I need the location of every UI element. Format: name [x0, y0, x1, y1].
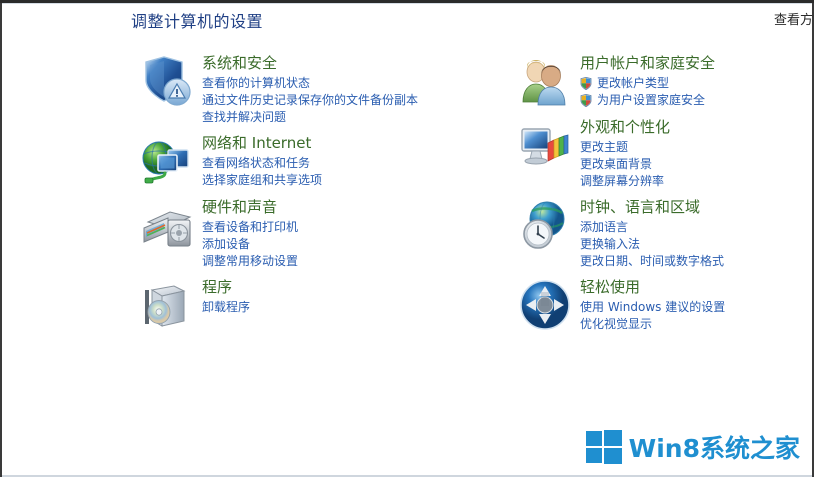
category-程序: 程序卸载程序 [140, 276, 510, 334]
control-panel-window: 调整计算机的设置 查看方 系统和安全查看你的计算机状态通过文件历史 [0, 0, 814, 477]
category-body: 硬件和声音查看设备和打印机添加设备调整常用移动设置 [202, 196, 510, 270]
monitor-palette-icon[interactable] [518, 118, 572, 172]
category-body: 程序卸载程序 [202, 276, 510, 316]
category-link[interactable]: 通过文件历史记录保存你的文件备份副本 [202, 92, 510, 109]
uac-shield-icon [580, 94, 592, 107]
category-link-label: 调整屏幕分辨率 [580, 174, 664, 188]
category-link[interactable]: 添加设备 [202, 236, 510, 253]
category-title[interactable]: 时钟、语言和区域 [580, 197, 814, 217]
category-link[interactable]: 调整常用移动设置 [202, 253, 510, 270]
category-body: 轻松使用使用 Windows 建议的设置优化视觉显示 [580, 276, 814, 333]
category-用户帐户和家庭安全: 用户帐户和家庭安全更改帐户类型为用户设置家庭安全 [518, 52, 814, 110]
category-title[interactable]: 系统和安全 [202, 53, 510, 73]
ease-of-access-icon[interactable] [518, 278, 572, 332]
clock-globe-icon[interactable] [518, 198, 572, 252]
category-link-label: 使用 Windows 建议的设置 [580, 300, 725, 314]
category-link-label: 查找并解决问题 [202, 110, 286, 124]
category-link-label: 卸载程序 [202, 300, 250, 314]
category-轻松使用: 轻松使用使用 Windows 建议的设置优化视觉显示 [518, 276, 814, 334]
category-link[interactable]: 优化视觉显示 [580, 316, 814, 333]
category-link-label: 查看网络状态和任务 [202, 156, 310, 170]
category-link[interactable]: 更改桌面背景 [580, 156, 814, 173]
category-网络和 Internet: 网络和 Internet查看网络状态和任务选择家庭组和共享选项 [140, 132, 510, 190]
category-link-label: 查看设备和打印机 [202, 220, 298, 234]
category-title[interactable]: 网络和 Internet [202, 133, 510, 153]
category-link[interactable]: 更改帐户类型 [580, 75, 814, 92]
category-link-label: 通过文件历史记录保存你的文件备份副本 [202, 93, 418, 107]
category-link-label: 更改帐户类型 [597, 76, 669, 90]
categories-left-column: 系统和安全查看你的计算机状态通过文件历史记录保存你的文件备份副本查找并解决问题 [140, 52, 510, 340]
category-硬件和声音: 硬件和声音查看设备和打印机添加设备调整常用移动设置 [140, 196, 510, 270]
category-link-label: 添加语言 [580, 220, 628, 234]
users-icon[interactable] [518, 54, 572, 108]
category-link[interactable]: 查看你的计算机状态 [202, 75, 510, 92]
category-link-label: 添加设备 [202, 237, 250, 251]
category-时钟、语言和区域: 时钟、语言和区域添加语言更换输入法更改日期、时间或数字格式 [518, 196, 814, 270]
category-系统和安全: 系统和安全查看你的计算机状态通过文件历史记录保存你的文件备份副本查找并解决问题 [140, 52, 510, 126]
category-link-label: 调整常用移动设置 [202, 254, 298, 268]
category-link-label: 更换输入法 [580, 237, 640, 251]
network-globe-icon[interactable] [140, 134, 194, 188]
category-link[interactable]: 查看设备和打印机 [202, 219, 510, 236]
shield-icon[interactable] [140, 54, 194, 108]
windows-logo-icon [586, 430, 622, 464]
category-link-label: 选择家庭组和共享选项 [202, 173, 322, 187]
category-link[interactable]: 卸载程序 [202, 299, 510, 316]
category-title[interactable]: 程序 [202, 277, 510, 297]
category-link-label: 为用户设置家庭安全 [597, 93, 705, 107]
category-body: 系统和安全查看你的计算机状态通过文件历史记录保存你的文件备份副本查找并解决问题 [202, 52, 510, 126]
view-by-label[interactable]: 查看方 [774, 9, 813, 28]
category-link-label: 优化视觉显示 [580, 317, 652, 331]
category-link[interactable]: 查找并解决问题 [202, 109, 510, 126]
category-link[interactable]: 选择家庭组和共享选项 [202, 172, 510, 189]
category-title[interactable]: 外观和个性化 [580, 117, 814, 137]
window-inner-divider [2, 3, 812, 4]
category-link[interactable]: 调整屏幕分辨率 [580, 173, 814, 190]
category-link-label: 更改日期、时间或数字格式 [580, 254, 724, 268]
category-外观和个性化: 外观和个性化更改主题更改桌面背景调整屏幕分辨率 [518, 116, 814, 190]
category-link[interactable]: 添加语言 [580, 219, 814, 236]
category-body: 网络和 Internet查看网络状态和任务选择家庭组和共享选项 [202, 132, 510, 189]
watermark: Win8系统之家 [586, 427, 800, 467]
category-link[interactable]: 更换输入法 [580, 236, 814, 253]
category-title[interactable]: 轻松使用 [580, 277, 814, 297]
category-body: 用户帐户和家庭安全更改帐户类型为用户设置家庭安全 [580, 52, 814, 109]
category-link-label: 查看你的计算机状态 [202, 76, 310, 90]
category-body: 外观和个性化更改主题更改桌面背景调整屏幕分辨率 [580, 116, 814, 190]
category-title[interactable]: 硬件和声音 [202, 197, 510, 217]
programs-box-icon[interactable] [140, 278, 194, 332]
category-body: 时钟、语言和区域添加语言更换输入法更改日期、时间或数字格式 [580, 196, 814, 270]
category-link[interactable]: 查看网络状态和任务 [202, 155, 510, 172]
category-link-label: 更改桌面背景 [580, 157, 652, 171]
category-link[interactable]: 更改主题 [580, 139, 814, 156]
category-link[interactable]: 为用户设置家庭安全 [580, 92, 814, 109]
category-link[interactable]: 更改日期、时间或数字格式 [580, 253, 814, 270]
category-title[interactable]: 用户帐户和家庭安全 [580, 53, 814, 73]
uac-shield-icon [580, 77, 592, 90]
category-link-label: 更改主题 [580, 140, 628, 154]
printer-icon[interactable] [140, 198, 194, 252]
watermark-text: Win8系统之家 [629, 429, 800, 465]
categories-right-column: 用户帐户和家庭安全更改帐户类型为用户设置家庭安全 外观和个性化更改主题更改桌面背… [518, 52, 814, 340]
category-link[interactable]: 使用 Windows 建议的设置 [580, 299, 814, 316]
page-title: 调整计算机的设置 [131, 8, 263, 32]
window-left-edge [0, 3, 2, 477]
